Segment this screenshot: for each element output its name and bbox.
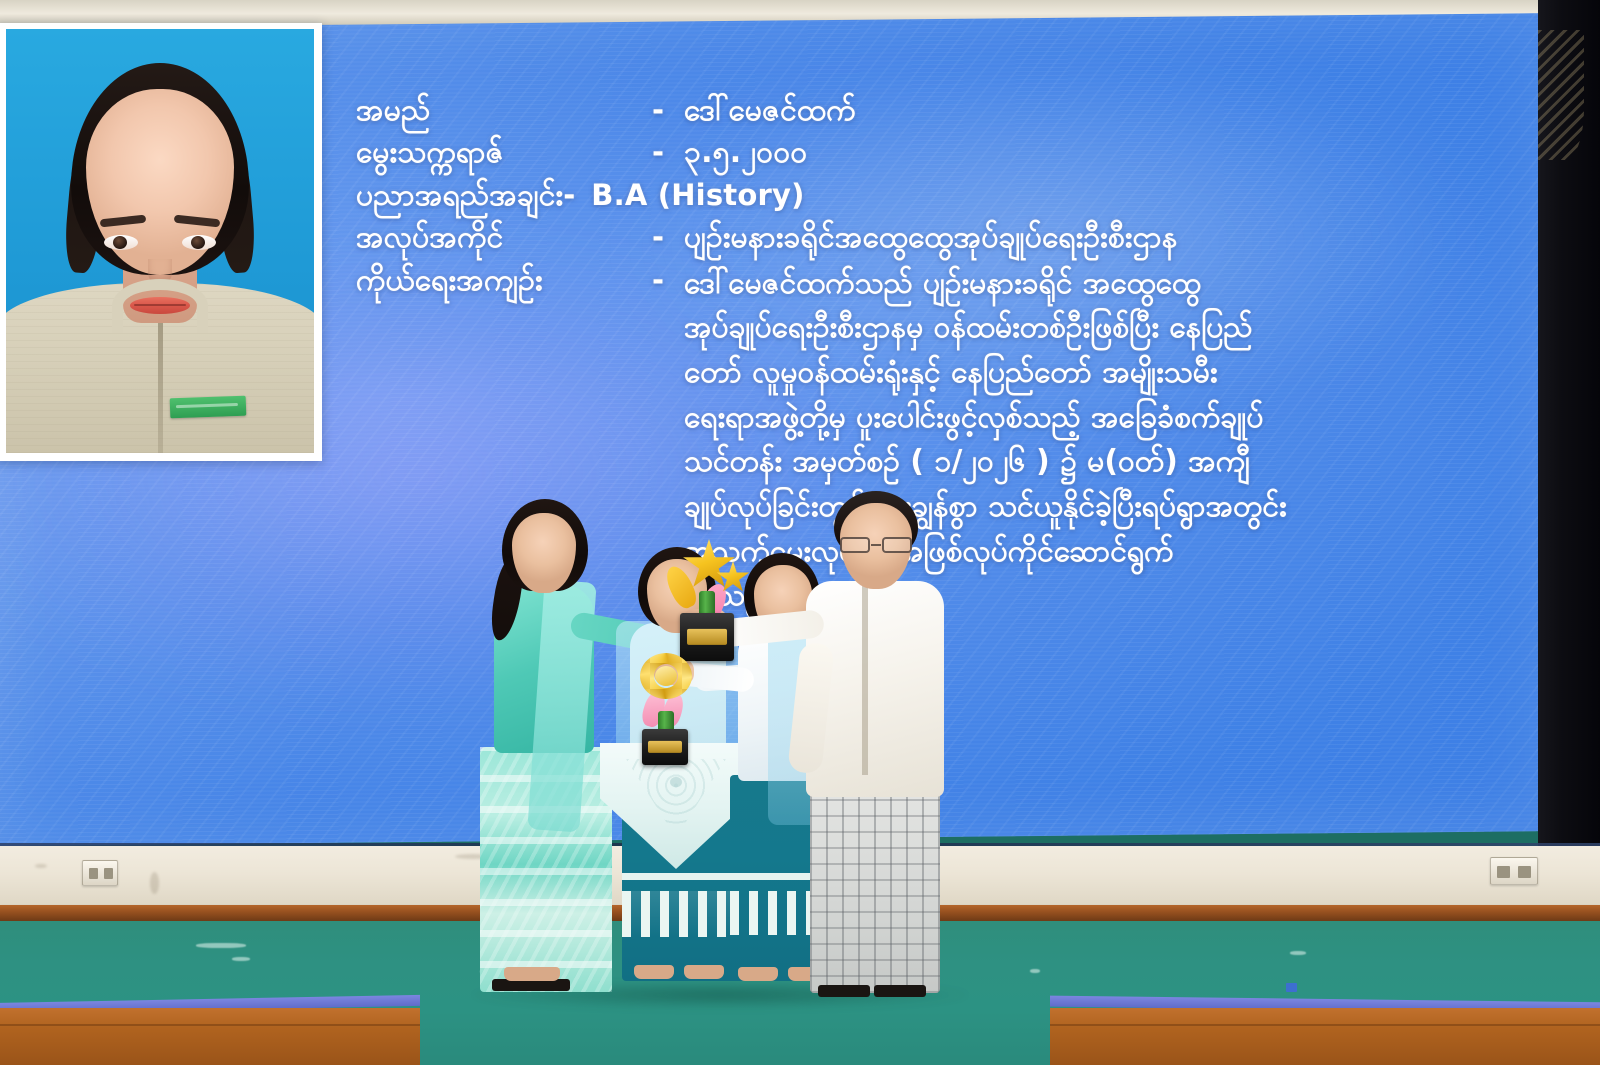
stage-curtain (1538, 0, 1600, 905)
field-biography-dash: - (652, 262, 684, 620)
field-birthdate: မွေးသက္ကရာဇ် - ၃.၅.၂၀၀၀ (356, 134, 1536, 172)
field-biography-text: ဒေါ်မေဇင်ထက်သည် ပျဉ်းမနားခရိုင် အထွေထွေ … (684, 262, 1536, 620)
awardee-portrait-frame (0, 23, 322, 461)
field-occupation: အလုပ်အကိုင် - ပျဉ်းမနားခရိုင်အထွေထွေအုပ်… (356, 219, 1536, 257)
bench-body (0, 1008, 420, 1065)
bio-line: ချုပ်လုပ်ခြင်းတွင် ထူးချွန်စွာ သင်ယူနိုင… (684, 485, 1536, 530)
bench-body (1050, 1008, 1600, 1065)
led-presentation-screen: အမည် - ဒေါ်မေဇင်ထက် မွေးသက္ကရာဇ် - ၃.၅.၂… (0, 13, 1545, 846)
portrait-face (86, 89, 234, 275)
field-occupation-dash: - (652, 219, 684, 256)
field-education-dash: - (563, 177, 575, 214)
field-occupation-value: ပျဉ်းမနားခရိုင်အထွေထွေအုပ်ချုပ်ရေးဦးစီးဌ… (684, 219, 1536, 257)
portrait-eyebrow-left (100, 215, 147, 228)
bio-line: တော် လူမှုဝန်ထမ်းရုံးနှင့် နေပြည်တော် အမ… (684, 351, 1536, 396)
field-education-value: B.A (History) (591, 177, 1536, 214)
portrait-collar (112, 279, 208, 333)
award-ceremony-photo: အမည် - ဒေါ်မေဇင်ထက် မွေးသက္ကရာဇ် - ၃.၅.၂… (0, 0, 1600, 1065)
field-biography: ကိုယ်ရေးအကျဉ်း - ဒေါ်မေဇင်ထက်သည် ပျဉ်းမန… (356, 262, 1536, 620)
field-birthdate-label: မွေးသက္ကရာဇ် (356, 134, 652, 172)
wall-band (0, 846, 1600, 908)
bio-line: နိုင်သည်။ (684, 574, 1536, 619)
portrait-eye-left (104, 235, 138, 250)
bio-line: အသက်မွေးလုပ်ငန်းအဖြစ်လုပ်ကိုင်ဆောင်ရွက် (684, 530, 1536, 575)
bio-line: အုပ်ချုပ်ရေးဦးစီးဌာနမှ ဝန်ထမ်းတစ်ဦးဖြစ်ပ… (684, 306, 1536, 351)
portrait-name-badge (170, 396, 247, 419)
field-name-label: အမည် (356, 92, 652, 130)
power-outlet-left (82, 860, 118, 886)
bench-right (1050, 999, 1600, 1065)
field-education-label: ပညာအရည်အချင်း (356, 177, 563, 215)
wall-baseboard-trim (0, 905, 1600, 921)
portrait-eye-right (182, 235, 216, 250)
power-outlet-right (1490, 857, 1538, 885)
field-name-dash: - (652, 92, 684, 129)
bench-left (0, 999, 420, 1065)
field-occupation-label: အလုပ်အကိုင် (356, 219, 652, 257)
field-birthdate-dash: - (652, 134, 684, 171)
field-biography-label: ကိုယ်ရေးအကျဉ်း (356, 262, 652, 620)
field-education: ပညာအရည်အချင်း - B.A (History) (356, 177, 1536, 215)
awardee-portrait-photo (6, 29, 314, 453)
slide-text-block: အမည် - ဒေါ်မေဇင်ထက် မွေးသက္ကရာဇ် - ၃.၅.၂… (356, 92, 1536, 619)
field-birthdate-value: ၃.၅.၂၀၀၀ (684, 134, 1536, 172)
bio-line: ရေးရာအဖွဲ့တို့မှ ပူးပေါင်းဖွင့်လှစ်သည့် … (684, 396, 1536, 441)
bio-line: သင်တန်း အမှတ်စဉ် ( ၁/၂၀၂၆ ) ၌ မ(ဝတ်) အကျ… (684, 440, 1536, 485)
bio-line: ဒေါ်မေဇင်ထက်သည် ပျဉ်းမနားခရိုင် အထွေထွေ (684, 262, 1536, 307)
field-name: အမည် - ဒေါ်မေဇင်ထက် (356, 92, 1536, 130)
portrait-eyebrow-right (174, 215, 221, 228)
field-name-value: ဒေါ်မေဇင်ထက် (684, 92, 1536, 130)
